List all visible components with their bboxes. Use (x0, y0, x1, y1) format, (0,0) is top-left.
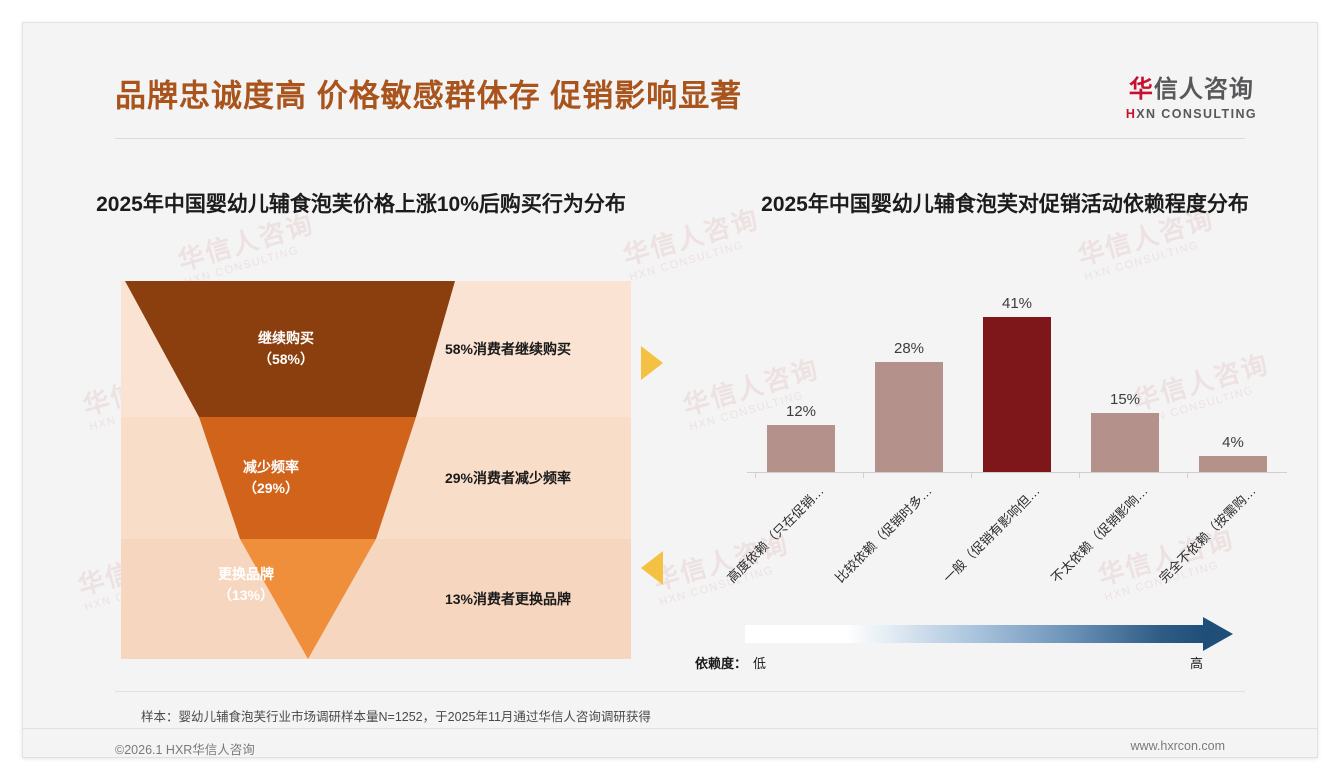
bar-value-label: 41% (1002, 295, 1032, 312)
legend-low-label: 低 (753, 653, 766, 672)
brand-logo: 华信人咨询 HXN CONSULTING (1126, 78, 1257, 121)
gradient-bar (745, 625, 1205, 643)
footer-divider (23, 728, 1317, 729)
triangle-right-icon (641, 346, 663, 380)
bar-item: 12% (767, 295, 835, 472)
logo-en-accent: H (1126, 107, 1136, 121)
bar-value-label: 15% (1110, 391, 1140, 408)
right-chart-title: 2025年中国婴幼儿辅食泡芙对促销活动依赖程度分布 (695, 191, 1315, 219)
logo-cn-accent: 华 (1129, 76, 1154, 103)
footnote-divider (115, 691, 1245, 692)
bar-item: 15% (1091, 295, 1159, 472)
bar-item: 4% (1199, 295, 1267, 472)
bar-series: 12%28%41%15%4% (747, 295, 1287, 472)
x-axis-label: 不太依赖（促销影响… (1046, 481, 1151, 586)
page-title: 品牌忠诚度高 价格敏感群体存 促销影响显著 (115, 71, 742, 116)
copyright-text: ©2026.1 HXR华信人咨询 (115, 739, 255, 758)
header-divider (115, 138, 1245, 139)
bar-item: 41% (983, 295, 1051, 472)
x-axis-label: 一般（促销有影响但… (938, 481, 1043, 586)
triangle-left-icon (641, 551, 663, 585)
x-axis-label: 比较依赖（促销时多… (830, 481, 935, 586)
bar-value-label: 12% (786, 403, 816, 420)
bar (1091, 413, 1159, 472)
dependency-gradient-legend: 依赖度： 低 高 (695, 621, 1315, 683)
funnel-chart: 58%消费者继续购买 29%消费者减少频率 13%消费者更换品牌 继续购买 （5… (121, 281, 631, 659)
gradient-arrowhead-icon (1203, 617, 1233, 651)
slide-canvas: 华信人咨询HXN CONSULTING 华信人咨询HXN CONSULTING … (22, 22, 1318, 758)
x-axis-label: 完全不依赖（按需购… (1154, 481, 1259, 586)
legend-title: 依赖度： (695, 653, 747, 672)
x-axis-labels: 高度依赖（只在促销…比较依赖（促销时多…一般（促销有影响但…不太依赖（促销影响…… (747, 475, 1287, 605)
sample-footnote: 样本：婴幼儿辅食泡芙行业市场调研样本量N=1252，于2025年11月通过华信人… (141, 706, 651, 725)
logo-en-rest: XN CONSULTING (1136, 107, 1257, 121)
logo-chinese-text: 华信人咨询 (1126, 78, 1257, 102)
x-axis-label: 高度依赖（只在促销… (722, 481, 827, 586)
bar (983, 317, 1051, 472)
slide-header: 品牌忠诚度高 价格敏感群体存 促销影响显著 华信人咨询 HXN CONSULTI… (23, 23, 1317, 138)
bar (1199, 456, 1267, 472)
logo-cn-rest: 信人咨询 (1154, 76, 1254, 103)
bar-value-label: 4% (1222, 434, 1244, 451)
bar-value-label: 28% (894, 340, 924, 357)
bar-item: 28% (875, 295, 943, 472)
funnel-shape (121, 281, 631, 659)
x-axis-line (747, 472, 1287, 473)
legend-high-label: 高 (1190, 653, 1203, 672)
left-chart-title: 2025年中国婴幼儿辅食泡芙价格上涨10%后购买行为分布 (61, 191, 661, 219)
logo-english-text: HXN CONSULTING (1126, 108, 1257, 121)
bar (767, 425, 835, 472)
dependency-bar-chart: 12%28%41%15%4% 高度依赖（只在促销…比较依赖（促销时多…一般（促销… (695, 285, 1315, 615)
website-url: www.hxrcon.com (1131, 739, 1225, 753)
bar (875, 362, 943, 472)
watermark: 华信人咨询HXN CONSULTING (175, 210, 321, 289)
